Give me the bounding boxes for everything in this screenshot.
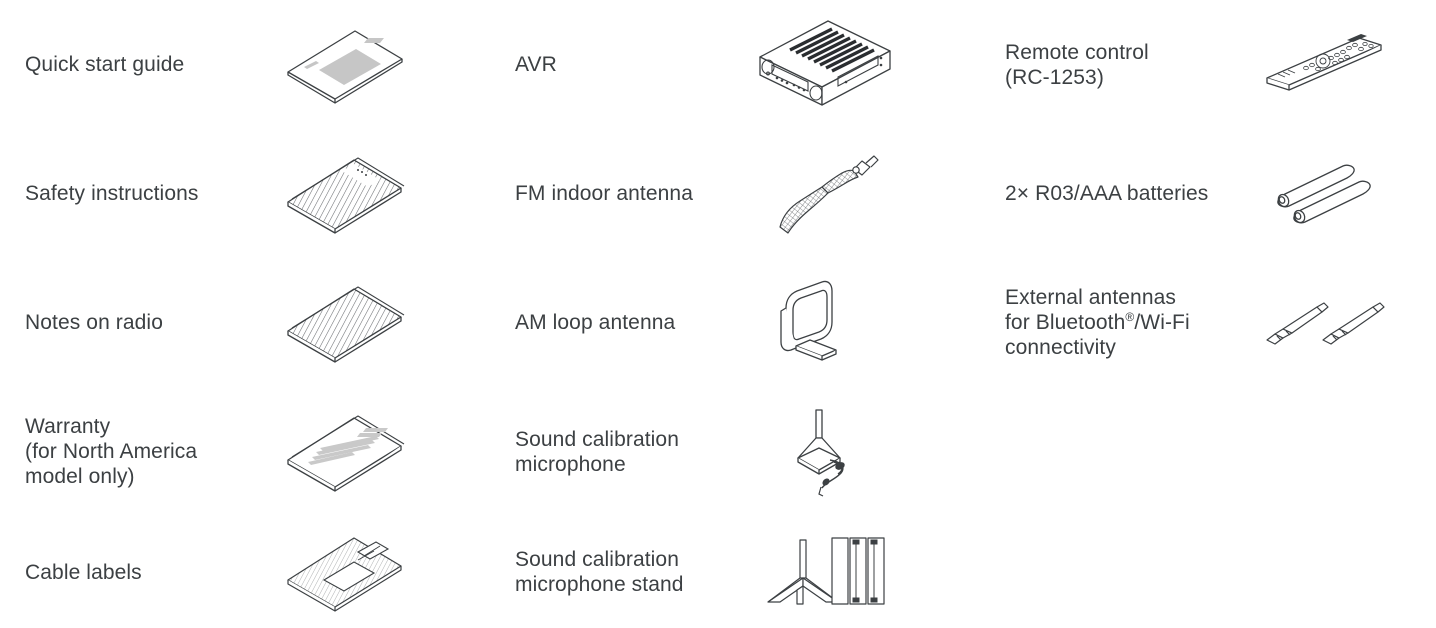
accessory-label: External antennas for Bluetooth®/Wi-Fi c… bbox=[1005, 285, 1190, 360]
am-loop-antenna-icon bbox=[745, 273, 905, 373]
lined-sheets-icon bbox=[265, 144, 425, 244]
microphone-stand-icon bbox=[745, 522, 905, 622]
accessory-item-sound-calibration-microphone: Sound calibration microphone bbox=[490, 387, 980, 516]
accessory-item-warranty: Warranty (for North America model only) bbox=[0, 387, 490, 516]
accessory-item-cable-labels: Cable labels bbox=[0, 516, 490, 628]
fm-antenna-icon bbox=[745, 144, 905, 244]
accessory-item-aaa-batteries: 2× R03/AAA batteries bbox=[980, 129, 1436, 258]
accessory-label: AM loop antenna bbox=[515, 310, 675, 335]
accessory-label: FM indoor antenna bbox=[515, 181, 693, 206]
accessory-item-safety-instructions: Safety instructions bbox=[0, 129, 490, 258]
accessory-label: Safety instructions bbox=[25, 181, 198, 206]
accessory-item-quick-start-guide: Quick start guide bbox=[0, 0, 490, 129]
registered-trademark-icon: ® bbox=[1125, 310, 1134, 324]
accessory-label: Remote control (RC-1253) bbox=[1005, 40, 1149, 90]
accessory-item-fm-indoor-antenna: FM indoor antenna bbox=[490, 129, 980, 258]
cable-labels-sheet-icon bbox=[265, 522, 425, 622]
booklet-shaded-icon bbox=[265, 15, 425, 115]
warranty-sheet-icon bbox=[265, 402, 425, 502]
calibration-microphone-icon bbox=[745, 402, 905, 502]
accessory-item-notes-on-radio: Notes on radio bbox=[0, 258, 490, 387]
accessory-item-remote-control: Remote control (RC-1253) bbox=[980, 0, 1436, 129]
accessory-label: Notes on radio bbox=[25, 310, 163, 335]
accessory-cell-empty bbox=[980, 516, 1436, 628]
accessory-label: Warranty (for North America model only) bbox=[25, 414, 197, 489]
avr-receiver-icon bbox=[745, 15, 905, 115]
accessory-item-avr: AVR bbox=[490, 0, 980, 129]
lined-sheets-icon bbox=[265, 273, 425, 373]
accessories-grid: Quick start guide AVR bbox=[0, 0, 1436, 599]
accessory-label: AVR bbox=[515, 52, 557, 77]
accessory-label: 2× R03/AAA batteries bbox=[1005, 181, 1208, 206]
external-antennas-icon bbox=[1246, 273, 1406, 373]
accessory-label: Cable labels bbox=[25, 560, 142, 585]
accessory-label: Quick start guide bbox=[25, 52, 184, 77]
accessory-item-external-antennas: External antennas for Bluetooth®/Wi-Fi c… bbox=[980, 258, 1436, 387]
batteries-icon bbox=[1246, 144, 1406, 244]
accessory-label: Sound calibration microphone bbox=[515, 427, 679, 477]
remote-control-icon bbox=[1246, 15, 1406, 115]
accessory-item-am-loop-antenna: AM loop antenna bbox=[490, 258, 980, 387]
accessory-item-sound-calibration-microphone-stand: Sound calibration microphone stand bbox=[490, 516, 980, 628]
accessory-label: Sound calibration microphone stand bbox=[515, 547, 684, 597]
accessory-cell-empty bbox=[980, 387, 1436, 516]
